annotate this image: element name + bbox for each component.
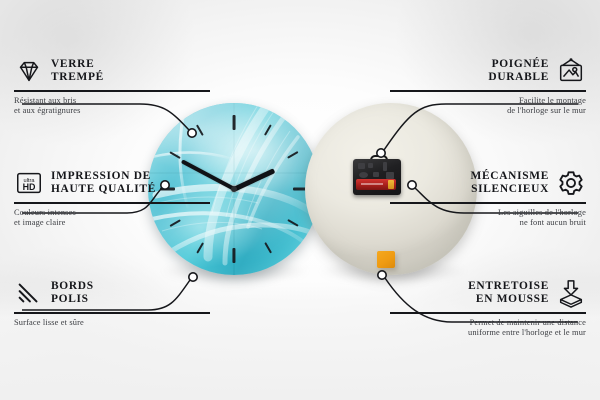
divider [14, 202, 210, 204]
anchor-poignee [377, 149, 385, 157]
feature-title-line1: POIGNÉE [488, 58, 549, 71]
feature-title-line2: EN MOUSSE [468, 293, 549, 306]
feature-bords-polis: BORDS POLIS Surface lisse et sûre [14, 278, 210, 328]
anchor-entretoise [378, 271, 386, 279]
feature-title-line2: TREMPÉ [51, 71, 104, 84]
divider [14, 90, 210, 92]
feature-sub-line1: Facilite le montage [390, 96, 586, 106]
feature-sub-line1: Couleurs intenses [14, 208, 210, 218]
divider [390, 312, 586, 314]
divider [14, 312, 210, 314]
feature-title-line2: HAUTE QUALITÉ [51, 183, 156, 196]
feature-title-line1: MÉCANISME [471, 170, 549, 183]
feature-title-line1: ENTRETOISE [468, 280, 549, 293]
feature-sub-line2: et image claire [14, 218, 210, 228]
diagonal-lines-icon [14, 278, 44, 308]
feature-verre-trempe: VERRE TREMPÉ Résistant aux bris et aux é… [14, 56, 210, 116]
feature-title-line2: SILENCIEUX [471, 183, 549, 196]
feature-sub-line2: et aux égratignures [14, 106, 210, 116]
diamond-icon [14, 56, 44, 86]
feature-sub-line1: Résistant aux bris [14, 96, 210, 106]
feature-title-line1: VERRE [51, 58, 104, 71]
feature-poignee-durable: POIGNÉE DURABLE Facilite le montage de l… [390, 56, 586, 116]
feature-sub-line1: Permet de maintenir une distance [390, 318, 586, 328]
feature-title-line2: POLIS [51, 293, 94, 306]
feature-title-line1: BORDS [51, 280, 94, 293]
ultra-hd-bottom-text: HD [23, 182, 36, 192]
feature-mecanisme-silencieux: MÉCANISME SILENCIEUX Les aiguilles de l'… [390, 168, 586, 228]
feature-sub-line1: Les aiguilles de l'horloge [390, 208, 586, 218]
feature-sub-line2: ne font aucun bruit [390, 218, 586, 228]
feature-sub-line2: uniforme entre l'horloge et le mur [390, 328, 586, 338]
divider [390, 90, 586, 92]
feature-entretoise-en-mousse: ENTRETOISE EN MOUSSE Permet de maintenir… [390, 278, 586, 338]
anchor-verre [188, 129, 196, 137]
hanging-frame-icon [556, 56, 586, 86]
infographic-canvas: VERRE TREMPÉ Résistant aux bris et aux é… [0, 0, 600, 400]
divider [390, 202, 586, 204]
feature-title-line2: DURABLE [488, 71, 549, 84]
ultra-hd-icon: ultra HD [14, 168, 44, 198]
feature-impression-haute-qualite: ultra HD IMPRESSION DE HAUTE QUALITÉ Cou… [14, 168, 210, 228]
arrow-down-stack-icon [556, 278, 586, 308]
feature-sub-line1: Surface lisse et sûre [14, 318, 210, 328]
gear-icon [556, 168, 586, 198]
feature-title-line1: IMPRESSION DE [51, 170, 156, 183]
feature-sub-line2: de l'horloge sur le mur [390, 106, 586, 116]
